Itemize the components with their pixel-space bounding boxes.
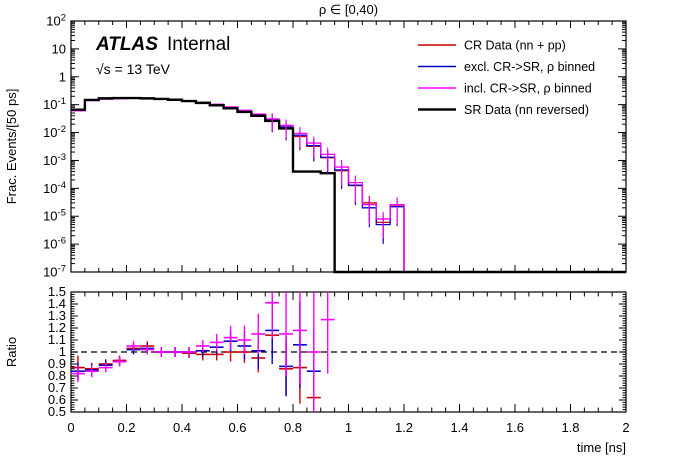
y-axis-label-main: 10-4 <box>43 180 66 196</box>
plot-title: ρ ∈ [0,40) <box>319 2 378 17</box>
y-axis-label-ratio: 1.5 <box>48 284 66 299</box>
x-axis-label-ratio: 0.8 <box>284 420 302 435</box>
y-axis-label-main: 10-2 <box>43 124 66 140</box>
plot-canvas: 10210110-110-210-310-410-510-610-7ρ ∈ [0… <box>0 0 696 472</box>
legend-label-1: excl. CR->SR, ρ binned <box>464 60 595 74</box>
y-axis-label-main: 1 <box>59 69 66 84</box>
x-axis-label-ratio: 1.2 <box>395 420 413 435</box>
legend-label-2: incl. CR->SR, ρ binned <box>464 82 592 96</box>
x-axis-label-ratio: 0 <box>67 420 74 435</box>
x-axis-label-ratio: 1 <box>345 420 352 435</box>
y-axis-title-ratio: Ratio <box>4 337 19 367</box>
y-axis-label-main: 10-5 <box>43 208 66 224</box>
x-axis-label-ratio: 1.4 <box>450 420 468 435</box>
atlas-status-label: Internal <box>167 34 230 55</box>
x-axis-label-ratio: 2 <box>622 420 629 435</box>
y-axis-label-main: 10-6 <box>43 236 66 252</box>
atlas-label: ATLAS <box>95 34 158 55</box>
x-axis-label-ratio: 0.6 <box>228 420 246 435</box>
root-figure: 10210110-110-210-310-410-510-610-7ρ ∈ [0… <box>0 0 696 472</box>
histogram-0000cc <box>71 98 626 272</box>
x-axis-label-ratio: 1.8 <box>561 420 579 435</box>
legend-label-0: CR Data (nn + pp) <box>464 39 566 53</box>
y-axis-label-main: 10-3 <box>43 152 66 168</box>
x-axis-label-ratio: 0.2 <box>117 420 135 435</box>
legend-label-3: SR Data (nn reversed) <box>464 103 589 117</box>
ratio-points-group <box>71 266 335 434</box>
energy-label: √s = 13 TeV <box>96 61 171 77</box>
x-axis-title: time [ns] <box>577 440 626 455</box>
y-axis-label-main: 10-1 <box>43 96 66 112</box>
main-plot-frame <box>71 21 626 272</box>
y-axis-title-main: Frac. Events/[50 ps] <box>4 89 19 205</box>
y-axis-label-main: 102 <box>46 13 66 29</box>
y-axis-label-main: 10-7 <box>43 264 66 280</box>
y-axis-label-main: 10 <box>52 41 66 56</box>
x-axis-label-ratio: 1.6 <box>506 420 524 435</box>
x-axis-label-ratio: 0.4 <box>173 420 191 435</box>
